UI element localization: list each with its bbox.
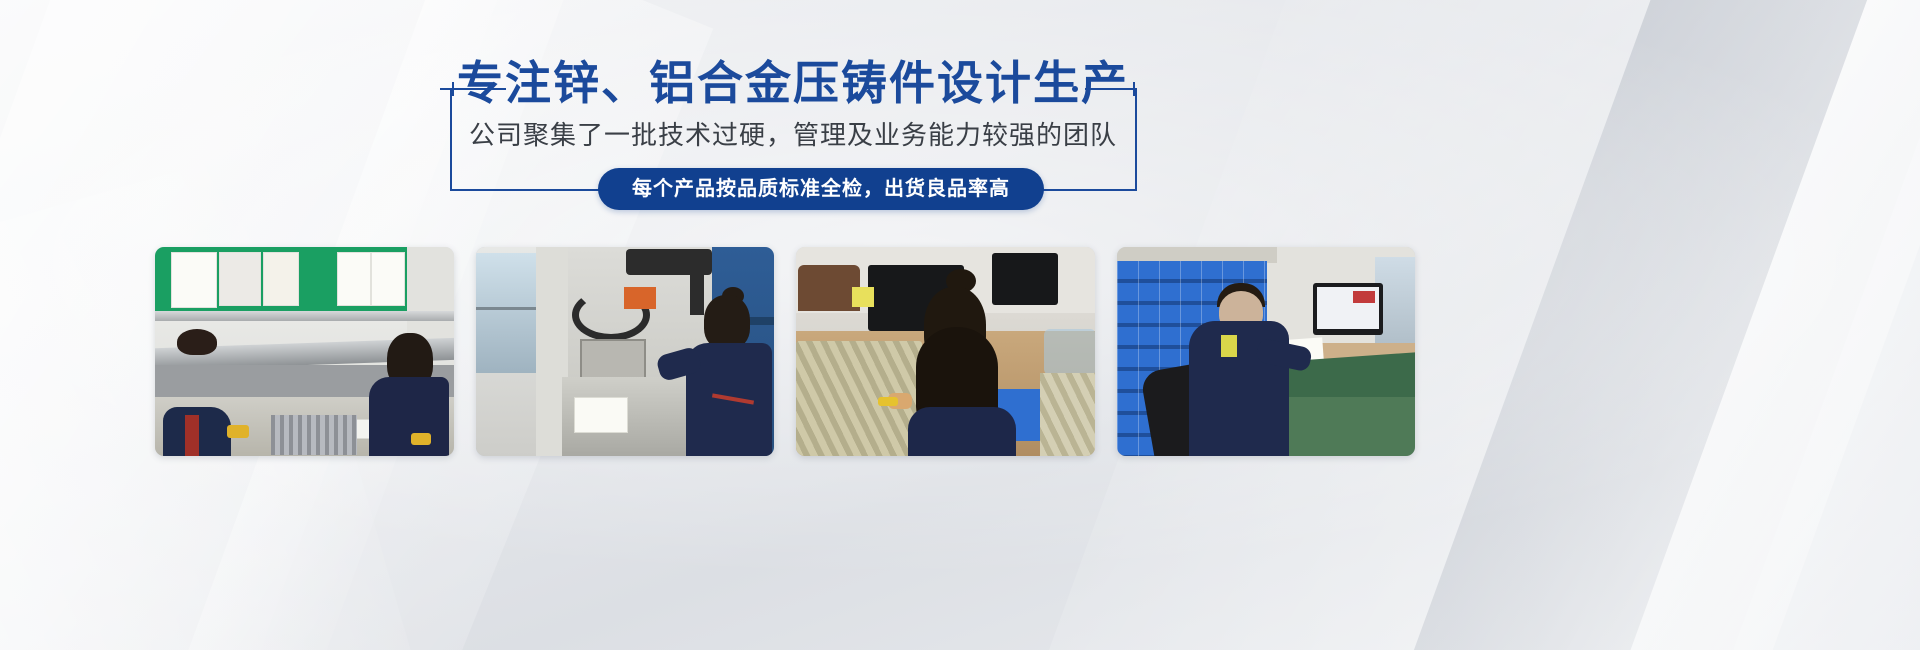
gallery-photo-3[interactable] bbox=[796, 247, 1095, 456]
bracket-left-horizontal bbox=[450, 189, 610, 191]
photo-2-artwork bbox=[476, 247, 775, 456]
photo-3-artwork bbox=[796, 247, 1095, 456]
gallery-photo-4[interactable] bbox=[1117, 247, 1416, 456]
gallery-photo-1[interactable] bbox=[155, 247, 454, 456]
quality-claim-pill: 每个产品按品质标准全检，出货良品率高 bbox=[598, 168, 1044, 210]
gallery-photo-2[interactable] bbox=[476, 247, 775, 456]
photo-1-artwork bbox=[155, 247, 454, 456]
promo-banner: 专注锌、铝合金压铸件设计生产 公司聚集了一批技术过硬，管理及业务能力较强的团队 … bbox=[0, 0, 1920, 650]
factory-photo-gallery bbox=[155, 247, 1415, 456]
banner-subtitle: 公司聚集了一批技术过硬，管理及业务能力较强的团队 bbox=[0, 115, 1586, 152]
photo-4-artwork bbox=[1117, 247, 1416, 456]
banner-headline: 专注锌、铝合金压铸件设计生产 bbox=[0, 58, 1586, 109]
